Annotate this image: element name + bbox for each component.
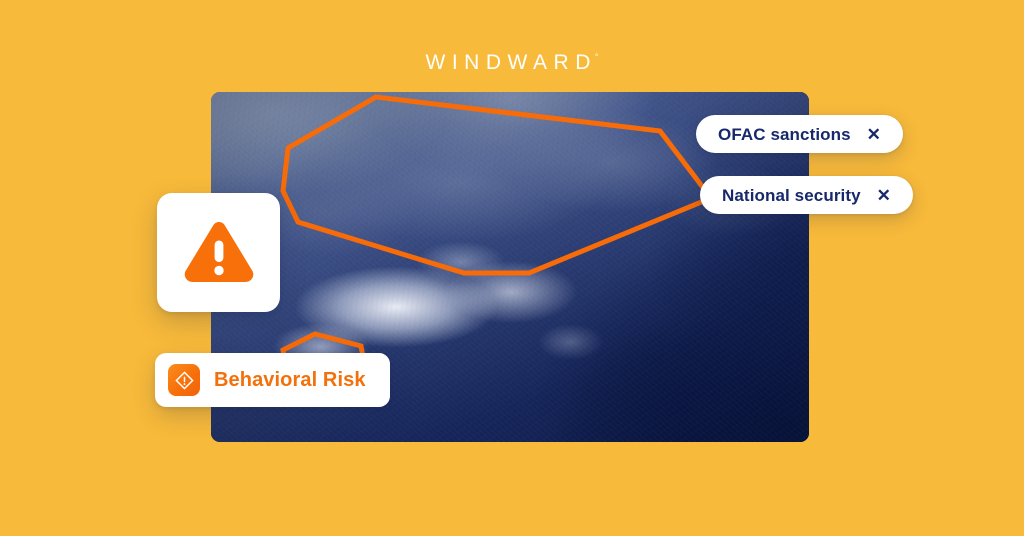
risk-diamond-icon: [168, 364, 200, 396]
close-icon[interactable]: ✕: [877, 188, 891, 202]
brand-wordmark: WINDWARD: [426, 52, 597, 73]
chip-ofac-label: OFAC sanctions: [718, 126, 851, 143]
chip-national-security[interactable]: National security ✕: [700, 176, 913, 214]
alert-card[interactable]: [157, 193, 280, 312]
primary-risk-zone-polygon[interactable]: [283, 97, 711, 273]
brand-logo: WINDWARD°: [0, 52, 1024, 73]
chip-national-security-label: National security: [722, 187, 861, 204]
chip-ofac-sanctions[interactable]: OFAC sanctions ✕: [696, 115, 903, 153]
warning-triangle-icon: [182, 220, 256, 286]
close-icon[interactable]: ✕: [867, 127, 881, 141]
behavioral-risk-label: Behavioral Risk: [214, 370, 366, 390]
behavioral-risk-card[interactable]: Behavioral Risk: [155, 353, 390, 407]
page-root: WINDWARD° OFAC sanctions ✕ National secu…: [0, 0, 1024, 536]
registered-mark-icon: °: [595, 53, 599, 62]
